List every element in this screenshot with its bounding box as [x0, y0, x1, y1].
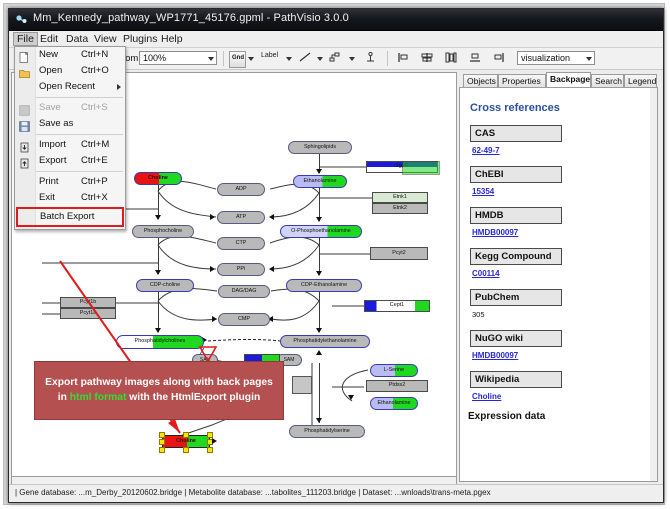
- xref-source-cas: CAS: [470, 125, 562, 142]
- menu-item-save: Save Ctrl+S: [15, 100, 125, 116]
- import-icon: [19, 140, 30, 151]
- edge-cdpcholine-to-pc: [158, 292, 159, 332]
- menu-item-exit[interactable]: Exit Ctrl+X: [15, 190, 125, 206]
- arrowhead-down: [155, 215, 161, 220]
- arrowhead-down: [316, 169, 322, 174]
- edge-ps-to-pe: [319, 363, 320, 423]
- expression-data-heading: Expression data: [468, 411, 652, 422]
- annotation-text-after: with the HtmlExport plugin: [126, 392, 260, 403]
- annotation-text-highlight: html format: [70, 392, 127, 403]
- submenu-arrow-icon: [117, 84, 121, 90]
- selection-handle[interactable]: [183, 432, 189, 438]
- arrowhead-down: [316, 271, 322, 276]
- xref-value-pubchem: 305: [472, 310, 652, 319]
- node-ppi[interactable]: PPi: [217, 263, 265, 276]
- save-as-icon: [19, 119, 30, 130]
- gene-etnk1[interactable]: Etnk1: [372, 192, 428, 203]
- gene-pcyt2[interactable]: Pcyt2: [370, 247, 428, 260]
- node-dag[interactable]: DAG/DAG: [218, 285, 270, 298]
- arrowhead-right: [210, 214, 215, 220]
- gene-pcyt1a[interactable]: Pcyt1a: [60, 308, 116, 319]
- node-ethanolamine-2[interactable]: Ethanolamine: [370, 397, 418, 410]
- node-ethanolamine[interactable]: Ethanolamine: [293, 175, 347, 188]
- export-icon: [19, 156, 30, 167]
- node-o-phosphoethanolamine[interactable]: O-Phosphoethanolamine: [280, 225, 362, 238]
- menu-item-open-recent-label: Open Recent: [39, 81, 95, 92]
- selection-handle[interactable]: [159, 447, 165, 453]
- menu-item-exit-accel: Ctrl+X: [81, 192, 108, 203]
- toolbar-separator-2: [387, 51, 388, 66]
- interaction-dropdown-icon[interactable]: [349, 57, 355, 61]
- menu-item-print-label: Print: [39, 176, 59, 187]
- node-phosphatidylethanolamine[interactable]: Phosphatidylethanolamine: [280, 335, 370, 348]
- menu-item-print-accel: Ctrl+P: [81, 176, 108, 187]
- selection-handle[interactable]: [159, 432, 165, 438]
- menu-item-export[interactable]: Export Ctrl+E: [15, 153, 125, 169]
- backpage-content[interactable]: Cross references CAS 62-49-7 ChEBI 15354…: [459, 87, 653, 482]
- arrowhead-left: [269, 266, 274, 272]
- tab-backpage[interactable]: Backpage: [546, 72, 591, 87]
- node-ctp[interactable]: CTP: [217, 237, 265, 250]
- annotation-callout: Export pathway images along with back pa…: [34, 361, 284, 420]
- side-panel-scrollbar[interactable]: [650, 87, 658, 482]
- tab-properties[interactable]: Properties: [498, 74, 546, 87]
- menu-item-batch-export-label: Batch Export: [40, 211, 94, 222]
- menu-item-open-accel: Ctrl+O: [81, 65, 109, 76]
- zoom-combo[interactable]: 100%: [139, 51, 217, 65]
- align-center-icon[interactable]: [421, 52, 433, 65]
- xref-source-chebi: ChEBI: [470, 166, 562, 183]
- menu-edit[interactable]: Edit: [36, 32, 62, 46]
- arrowhead-down: [316, 418, 322, 423]
- menu-item-print[interactable]: Print Ctrl+P: [15, 174, 125, 190]
- arrowhead-right: [212, 438, 217, 444]
- arrowhead-up: [316, 350, 322, 355]
- menu-item-save-as-label: Save as: [39, 118, 73, 129]
- xref-source-kegg: Kegg Compound: [470, 248, 562, 265]
- node-cmp[interactable]: CMP: [218, 313, 270, 326]
- align-right-icon[interactable]: [493, 52, 505, 65]
- anchor-box[interactable]: [292, 376, 312, 394]
- side-panel-tabs: Objects Properties Backpage Search Legen…: [459, 72, 658, 87]
- node-choline-top[interactable]: Choline: [134, 172, 182, 185]
- node-adp[interactable]: ADP: [217, 183, 265, 196]
- xref-value-wikipedia[interactable]: Choline: [472, 392, 652, 401]
- menu-item-open-recent[interactable]: Open Recent: [15, 79, 125, 95]
- xref-value-nugo[interactable]: HMDB00097: [472, 351, 652, 360]
- line-tool-button[interactable]: [299, 52, 311, 64]
- arrowhead-right: [210, 266, 215, 272]
- edge-phosphocholine-to-cdpcholine: [158, 238, 159, 274]
- datanode-dropdown-icon[interactable]: [248, 57, 254, 61]
- node-l-serine[interactable]: L-Serine: [370, 364, 418, 377]
- xref-source-hmdb: HMDB: [470, 207, 562, 224]
- menu-item-open[interactable]: Open Ctrl+O: [15, 63, 125, 79]
- menu-item-export-accel: Ctrl+E: [81, 155, 108, 166]
- arrowhead-down: [316, 217, 322, 222]
- edge-ophospho-to-cdpetn: [319, 238, 320, 275]
- xref-value-kegg[interactable]: C00114: [472, 269, 652, 278]
- node-cdp-ethanolamine[interactable]: CDP-Ethanolamine: [286, 279, 362, 292]
- menu-item-open-label: Open: [39, 65, 62, 76]
- menu-file[interactable]: File: [13, 32, 38, 46]
- visualization-combo[interactable]: visualization: [517, 51, 595, 65]
- title-bar: Mm_Kennedy_pathway_WP1771_45176.gpml - P…: [9, 9, 663, 31]
- node-sphingolipids[interactable]: Sphingolipids: [288, 141, 352, 154]
- new-document-icon: [19, 50, 30, 61]
- tab-objects[interactable]: Objects: [463, 74, 498, 87]
- pathvisio-window: Mm_Kennedy_pathway_WP1771_45176.gpml - P…: [8, 8, 664, 503]
- arrowhead-down: [316, 328, 322, 333]
- datanode-tool-button[interactable]: Gnd: [229, 51, 246, 68]
- arrowhead-left: [269, 214, 274, 220]
- visualization-value: visualization: [521, 53, 570, 63]
- menu-item-batch-export[interactable]: Batch Export: [16, 207, 124, 227]
- node-phosphatidylcholines[interactable]: Phosphatidylcholines: [116, 335, 204, 349]
- selection-handle[interactable]: [207, 447, 213, 453]
- xref-source-nugo: NuGO wiki: [470, 330, 562, 347]
- arrowhead-down: [155, 270, 161, 275]
- menu-item-save-as[interactable]: Save as: [15, 116, 125, 132]
- xref-source-pubchem: PubChem: [470, 289, 562, 306]
- node-phosphocholine[interactable]: Phosphocholine: [132, 225, 194, 238]
- menu-item-new-label: New: [39, 49, 58, 60]
- cross-references-heading: Cross references: [470, 102, 652, 114]
- xref-value-cas[interactable]: 62-49-7: [472, 146, 652, 155]
- selection-handle[interactable]: [183, 447, 189, 453]
- menu-item-save-accel: Ctrl+S: [81, 102, 108, 113]
- screenshot-root: Mm_Kennedy_pathway_WP1771_45176.gpml - P…: [0, 0, 670, 509]
- status-text: | Gene database: ...m_Derby_20120602.bri…: [15, 488, 491, 497]
- gene-cept1[interactable]: Cept1: [364, 300, 430, 312]
- edge-choline-to-phosphocholine: [158, 185, 159, 219]
- interaction-tool-button[interactable]: [329, 52, 341, 65]
- menu-item-import-accel: Ctrl+M: [81, 139, 109, 150]
- edge-cdpetn-to-pe: [319, 292, 320, 332]
- menu-view[interactable]: View: [90, 32, 121, 46]
- gene-pcyt1b[interactable]: Pcyt1b: [60, 297, 116, 308]
- save-icon: [19, 103, 30, 114]
- menu-help[interactable]: Help: [157, 32, 187, 46]
- chevron-down-icon: [586, 57, 592, 61]
- menu-item-exit-label: Exit: [39, 192, 55, 203]
- anchor-tool-button[interactable]: [365, 52, 376, 65]
- align-left-icon[interactable]: [397, 52, 409, 65]
- xref-source-wikipedia: Wikipedia: [470, 371, 562, 388]
- tab-search[interactable]: Search: [591, 74, 624, 87]
- side-panel: Objects Properties Backpage Search Legen…: [459, 72, 658, 482]
- menu-data[interactable]: Data: [62, 32, 92, 46]
- xref-value-chebi[interactable]: 15354: [472, 187, 652, 196]
- align-bottom-icon[interactable]: [469, 52, 481, 65]
- file-menu-popup[interactable]: New Ctrl+N Open Ctrl+O Open Recent Save: [14, 46, 126, 230]
- toolbar-separator-1: [223, 51, 224, 66]
- menu-item-import[interactable]: Import Ctrl+M: [15, 137, 125, 153]
- tab-legend[interactable]: Legend: [624, 74, 657, 87]
- arrowhead-down: [348, 395, 354, 400]
- status-bar: | Gene database: ...m_Derby_20120602.bri…: [9, 484, 663, 502]
- chevron-down-icon: [208, 57, 214, 61]
- node-atp[interactable]: ATP: [217, 211, 265, 224]
- selection-handle[interactable]: [159, 439, 165, 445]
- annotation-text: Export pathway images along with back pa…: [35, 376, 283, 405]
- xref-value-hmdb[interactable]: HMDB00097: [472, 228, 652, 237]
- line-dropdown-icon[interactable]: [317, 57, 323, 61]
- open-folder-icon: [19, 66, 30, 77]
- zoom-value: 100%: [143, 53, 166, 63]
- menu-item-new[interactable]: New Ctrl+N: [15, 47, 125, 63]
- menu-item-save-label: Save: [39, 102, 61, 113]
- menu-item-new-accel: Ctrl+N: [81, 49, 108, 60]
- arrowhead-right: [212, 316, 217, 322]
- label-dropdown-icon[interactable]: [286, 57, 292, 61]
- node-phosphatidylserine[interactable]: Phosphatidylserine: [289, 425, 365, 438]
- gene-etnk2[interactable]: Etnk2: [372, 203, 428, 214]
- pathvisio-icon: [15, 13, 28, 26]
- window-title: Mm_Kennedy_pathway_WP1771_45176.gpml - P…: [33, 12, 349, 24]
- node-cdp-choline[interactable]: CDP-choline: [136, 279, 194, 292]
- gene-sgpl1-expression-overlay: [402, 161, 440, 175]
- arrowhead-down: [155, 328, 161, 333]
- label-tool-button[interactable]: Label: [261, 52, 278, 59]
- gene-ptdss2[interactable]: Ptdss2: [366, 380, 428, 392]
- menu-item-export-label: Export: [39, 155, 66, 166]
- menu-plugins[interactable]: Plugins: [119, 32, 161, 46]
- menu-item-import-label: Import: [39, 139, 66, 150]
- align-middle-icon[interactable]: [445, 52, 457, 65]
